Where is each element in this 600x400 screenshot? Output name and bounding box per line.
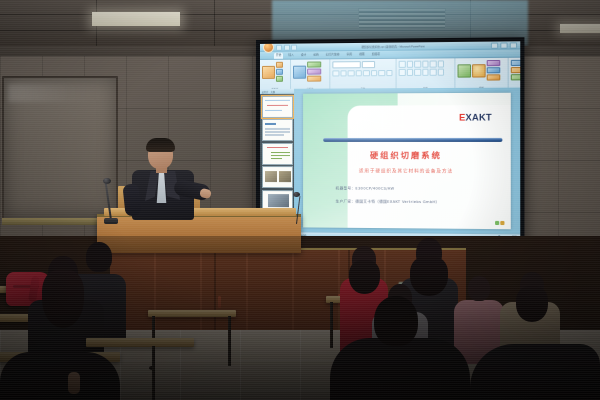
shape-outline-icon[interactable] xyxy=(487,67,501,73)
slide-title: 硬组织切磨系统 xyxy=(303,150,511,161)
workspace: 幻灯片 大纲 1 2 xyxy=(260,88,520,235)
replace-icon[interactable] xyxy=(511,67,520,73)
nav-tab-outline[interactable]: 大纲 xyxy=(271,89,275,93)
long-hair xyxy=(516,286,548,322)
slide-white-panel xyxy=(348,105,511,229)
body xyxy=(330,338,470,400)
slide-accent-bar xyxy=(323,138,502,142)
microphone-head xyxy=(103,178,111,184)
body xyxy=(0,352,120,400)
align-left-button[interactable] xyxy=(399,69,406,76)
microphone-base xyxy=(104,218,118,224)
ribbon-tab-insert[interactable]: 插入 xyxy=(286,53,295,59)
close-button[interactable] xyxy=(510,42,517,48)
window-title: 硬组织切磨系统.ppt [兼容模式] - Microsoft PowerPoin… xyxy=(299,43,489,49)
ribbon-tab-slideshow[interactable]: 幻灯片放映 xyxy=(324,52,342,58)
font-size-select[interactable] xyxy=(362,61,375,68)
bullets-button[interactable] xyxy=(399,61,406,68)
student-far-right xyxy=(470,326,600,400)
cut-icon[interactable] xyxy=(276,62,283,68)
slide-thumbnail-1[interactable]: 1 xyxy=(261,95,292,117)
slide-vendor-line: 生产厂家：德国艾卡特（德国EXAKT Vertriebs GmbH） xyxy=(336,200,440,206)
decrease-indent-button[interactable] xyxy=(414,61,421,68)
ribbon-tab-review[interactable]: 审阅 xyxy=(344,52,354,58)
italic-button[interactable] xyxy=(340,70,347,77)
restore-button[interactable] xyxy=(500,42,507,48)
ribbon-tab-view[interactable]: 视图 xyxy=(357,52,367,58)
ribbon-tab-design[interactable]: 设计 xyxy=(299,53,308,59)
ribbon-tab-animations[interactable]: 动画 xyxy=(311,52,320,58)
microphone-head xyxy=(293,192,300,197)
quick-access-toolbar[interactable] xyxy=(276,44,297,50)
underline-button[interactable] xyxy=(348,70,355,77)
body xyxy=(470,344,600,400)
justify-button[interactable] xyxy=(422,69,429,76)
head xyxy=(374,296,418,346)
head xyxy=(468,276,490,301)
format-painter-icon[interactable] xyxy=(276,76,283,82)
save-icon[interactable] xyxy=(276,44,282,50)
ribbon-group-editing: 编辑 xyxy=(509,58,521,90)
slide-thumbnail-4[interactable]: 4 xyxy=(261,166,292,188)
office-button-icon[interactable] xyxy=(263,42,274,53)
desk-leg xyxy=(228,316,231,366)
slide-subtitle: 适用于硬组织及其它材料的设备及方法 xyxy=(303,169,511,176)
line-spacing-button[interactable] xyxy=(430,60,437,67)
student-hand xyxy=(68,372,80,394)
layout-icon[interactable] xyxy=(307,61,321,67)
current-slide[interactable]: EXAKT 硬组织切磨系统 适用于硬组织及其它材料的设备及方法 机器型号：E30… xyxy=(303,93,511,229)
delete-slide-icon[interactable] xyxy=(307,76,321,82)
lecture-hall-photo: 硬组织切磨系统.ppt [兼容模式] - Microsoft PowerPoin… xyxy=(0,0,600,400)
new-slide-icon[interactable] xyxy=(293,65,306,78)
minimize-button[interactable] xyxy=(491,42,498,48)
exakt-logo: EXAKT xyxy=(459,112,492,122)
nav-tab-slides[interactable]: 幻灯片 xyxy=(262,89,269,93)
char-spacing-button[interactable] xyxy=(370,70,377,77)
strikethrough-button[interactable] xyxy=(363,70,370,77)
align-center-button[interactable] xyxy=(406,69,413,76)
slide-thumbnail-2[interactable]: 2 xyxy=(261,119,292,141)
ribbon-group-paragraph: 段落 xyxy=(397,58,456,90)
badge-green-icon xyxy=(495,221,499,225)
ribbon-group-slides: 幻灯片 xyxy=(291,59,330,90)
ribbon-group-clipboard: 剪贴板 xyxy=(260,60,291,91)
presenter-arm-left xyxy=(122,183,141,216)
ribbon-tab-home[interactable]: 开始 xyxy=(274,53,283,59)
reset-icon[interactable] xyxy=(307,69,321,75)
undo-icon[interactable] xyxy=(283,44,289,50)
ceiling-light-panel xyxy=(92,12,180,26)
desk-middle-center xyxy=(148,310,236,317)
blackboard xyxy=(2,76,118,220)
align-right-button[interactable] xyxy=(414,69,421,76)
badge-orange-icon xyxy=(500,221,504,225)
slide-corner-badges xyxy=(495,221,505,225)
paste-icon[interactable] xyxy=(262,65,275,78)
ceiling-light-panel xyxy=(560,24,600,33)
presenter-hair xyxy=(146,138,175,152)
find-icon[interactable] xyxy=(511,60,520,66)
redo-icon[interactable] xyxy=(291,44,297,50)
slide-thumbnail-3[interactable]: 3 xyxy=(261,143,292,165)
desk-leg xyxy=(152,346,155,400)
change-case-button[interactable] xyxy=(378,70,385,77)
numbering-button[interactable] xyxy=(406,61,413,68)
font-family-select[interactable] xyxy=(332,61,360,68)
presenter xyxy=(118,138,214,218)
font-color-button[interactable] xyxy=(386,69,393,76)
convert-smartart-button[interactable] xyxy=(437,69,444,76)
chalk-smudge xyxy=(8,84,108,102)
quick-styles-icon[interactable] xyxy=(472,64,486,77)
exakt-logo-rest: XAKT xyxy=(465,112,491,122)
student-front-center xyxy=(330,296,470,400)
shadow-button[interactable] xyxy=(355,70,362,77)
door-handle[interactable] xyxy=(218,296,221,308)
text-direction-button[interactable] xyxy=(437,60,444,67)
shapes-icon[interactable] xyxy=(458,64,472,77)
slide-editing-area[interactable]: EXAKT 硬组织切磨系统 适用于硬组织及其它材料的设备及方法 机器型号：E30… xyxy=(294,88,520,235)
slide-model-line: 机器型号：E300CP/400CS/AW xyxy=(336,186,395,191)
shape-effects-icon[interactable] xyxy=(487,74,501,80)
ponytail xyxy=(42,270,84,328)
ceiling-seam xyxy=(214,0,215,46)
ribbon-group-drawing: 绘图 xyxy=(455,58,508,90)
ribbon-group-font: 字体 xyxy=(330,59,396,91)
select-icon[interactable] xyxy=(511,74,520,80)
student-front-left xyxy=(0,336,120,400)
ribbon-tab-addins[interactable]: 加载项 xyxy=(370,52,382,58)
shape-fill-icon[interactable] xyxy=(487,60,501,66)
copy-icon[interactable] xyxy=(276,69,283,75)
bold-button[interactable] xyxy=(332,70,339,77)
columns-button[interactable] xyxy=(430,69,437,76)
increase-indent-button[interactable] xyxy=(422,61,429,68)
